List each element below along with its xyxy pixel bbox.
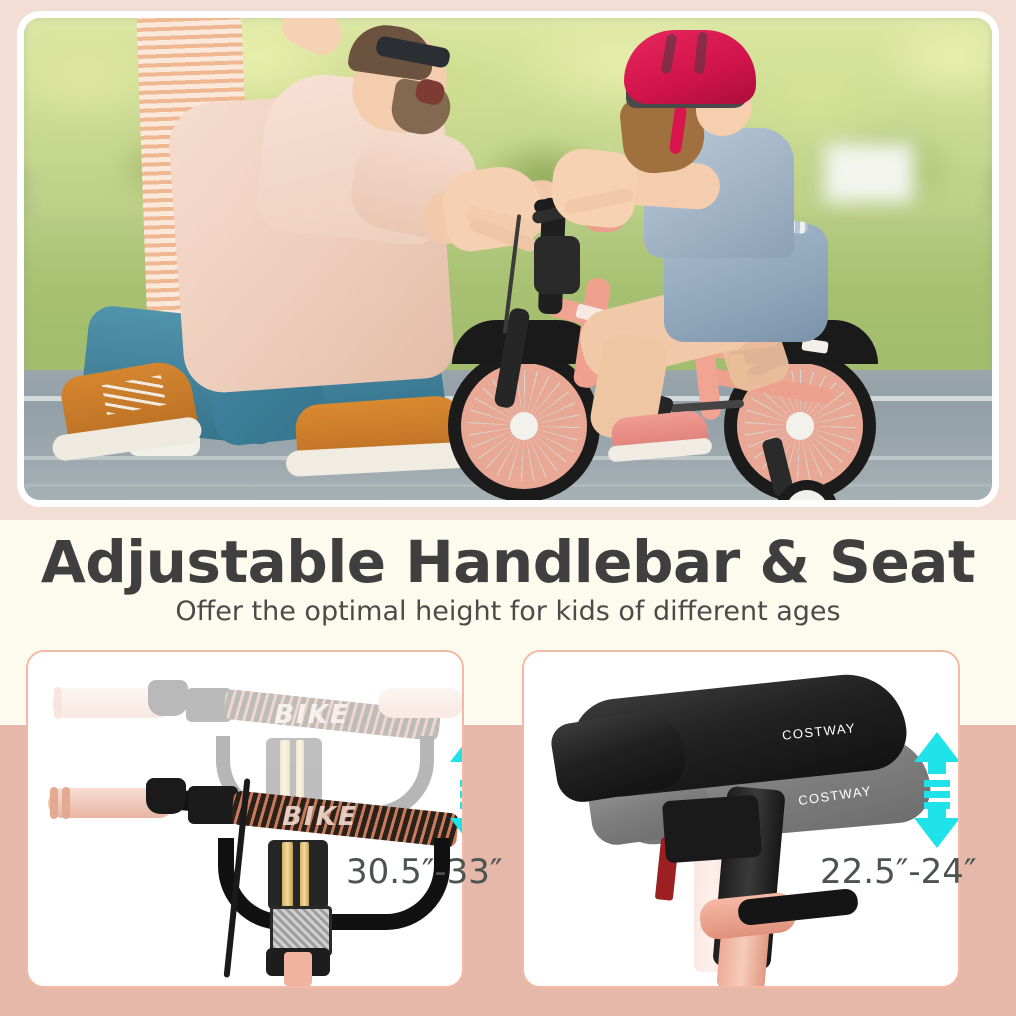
ghost-grip-right xyxy=(378,688,464,718)
handlebar-measurement-label: 30.5″-33″ xyxy=(346,852,503,892)
stem-stripe xyxy=(282,842,293,910)
ghost-grip-ring xyxy=(54,687,62,719)
grip-left-ring xyxy=(50,787,58,819)
ghost-stem-stripe-2 xyxy=(296,740,304,802)
ghost-stem xyxy=(266,738,322,802)
rear-hub xyxy=(786,412,814,440)
stem-clamp xyxy=(188,786,238,824)
hero-photo-frame xyxy=(24,18,992,500)
seat-measurement-label: 22.5″-24″ xyxy=(820,852,977,892)
stem-stripe-2 xyxy=(300,842,309,910)
double-arrow-vertical-icon xyxy=(910,730,960,850)
seat-clamp xyxy=(662,795,762,864)
decal-text: BIKE xyxy=(279,802,361,832)
stem xyxy=(268,840,328,910)
front-hub xyxy=(510,412,538,440)
page-subtitle: Offer the optimal height for kids of dif… xyxy=(0,596,1016,627)
ghost-bell-icon xyxy=(148,680,188,716)
grip-left-ring-2 xyxy=(62,787,70,819)
ghost-stem-stripe xyxy=(280,740,290,802)
helmet xyxy=(624,30,756,104)
card-adjustable-seat: COSTWAY COSTWAY xyxy=(522,650,960,988)
bell-icon xyxy=(146,778,186,814)
ghost-decal-text: BIKE xyxy=(271,700,353,730)
page-title: Adjustable Handlebar & Seat xyxy=(0,528,1016,596)
photo-background-blur-white xyxy=(824,143,914,203)
fork-tube xyxy=(284,952,312,986)
card-adjustable-handlebar: BIKE BIKE xyxy=(26,650,464,988)
double-arrow-vertical-icon xyxy=(446,730,464,850)
bike-stem-clamp xyxy=(534,236,580,294)
product-feature-image: Adjustable Handlebar & Seat Offer the op… xyxy=(0,0,1016,1016)
hero-photo xyxy=(24,18,992,500)
